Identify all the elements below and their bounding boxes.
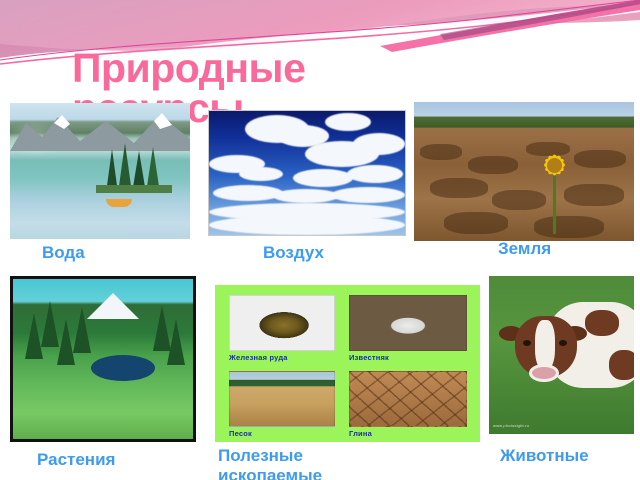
snow-peak-shape xyxy=(87,293,139,319)
soil-clod xyxy=(492,190,546,210)
cloud-shape xyxy=(213,185,283,201)
cow-blaze xyxy=(535,320,555,370)
caption-air: Воздух xyxy=(263,243,325,263)
cloud-shape xyxy=(347,165,403,183)
conifer-tree-icon xyxy=(73,307,91,353)
cow-patch xyxy=(585,310,619,336)
cloud-shape xyxy=(293,169,353,187)
mineral-caption: Известняк xyxy=(349,353,467,362)
photo-plants xyxy=(10,276,196,442)
slide-canvas: Природные ресурсы xyxy=(0,0,640,480)
mineral-item-clay: Глина xyxy=(349,371,467,438)
cloud-shape xyxy=(325,113,371,131)
caption-minerals: Полезные ископаемые xyxy=(218,446,338,480)
caption-plants: Растения xyxy=(37,450,197,470)
conifer-trees-icon xyxy=(96,141,172,193)
cow-patch xyxy=(609,350,634,380)
cow-eye-right xyxy=(559,340,567,346)
mineral-caption: Глина xyxy=(349,429,467,438)
pond-shape xyxy=(91,355,155,381)
soil-clod xyxy=(420,144,462,160)
cow-eye-left xyxy=(523,340,531,346)
sunflower-stem xyxy=(553,172,556,234)
clay-image xyxy=(349,371,467,427)
mineral-item-iron-ore: Железная руда xyxy=(229,295,335,362)
cow-muzzle xyxy=(529,364,559,382)
soil-clod xyxy=(526,142,570,156)
photo-earth xyxy=(414,102,634,241)
sand-image xyxy=(229,371,335,427)
caption-animals: Животные xyxy=(500,446,590,466)
soil-clod xyxy=(534,216,604,238)
caption-water: Вода xyxy=(42,243,112,263)
photo-water xyxy=(10,103,190,239)
soil-clod xyxy=(574,150,626,168)
minerals-panel: Железная руда Известняк Песок Глина xyxy=(215,285,480,442)
iron-ore-image xyxy=(229,295,335,351)
mineral-item-limestone: Известняк xyxy=(349,295,467,362)
limestone-image xyxy=(349,295,467,351)
cloud-shape xyxy=(353,133,405,155)
cloud-shape xyxy=(273,189,339,203)
soil-clod xyxy=(468,156,518,174)
conifer-tree-icon xyxy=(167,319,185,365)
photo-watermark: www.photosight.ru xyxy=(493,423,529,428)
sunflower-center xyxy=(547,158,562,173)
photo-air xyxy=(208,110,406,236)
mineral-caption: Железная руда xyxy=(229,353,335,362)
cloud-shape xyxy=(239,167,283,181)
soil-clod xyxy=(564,184,624,206)
photo-animals: www.photosight.ru xyxy=(489,276,634,434)
soil-clod xyxy=(444,212,508,234)
cloud-shape xyxy=(331,187,405,203)
canoe-icon xyxy=(106,199,132,207)
soil-clod xyxy=(430,178,488,198)
mineral-item-sand: Песок xyxy=(229,371,335,438)
caption-earth: Земля xyxy=(498,239,618,259)
cloud-shape xyxy=(209,215,405,235)
mineral-caption: Песок xyxy=(229,429,335,438)
